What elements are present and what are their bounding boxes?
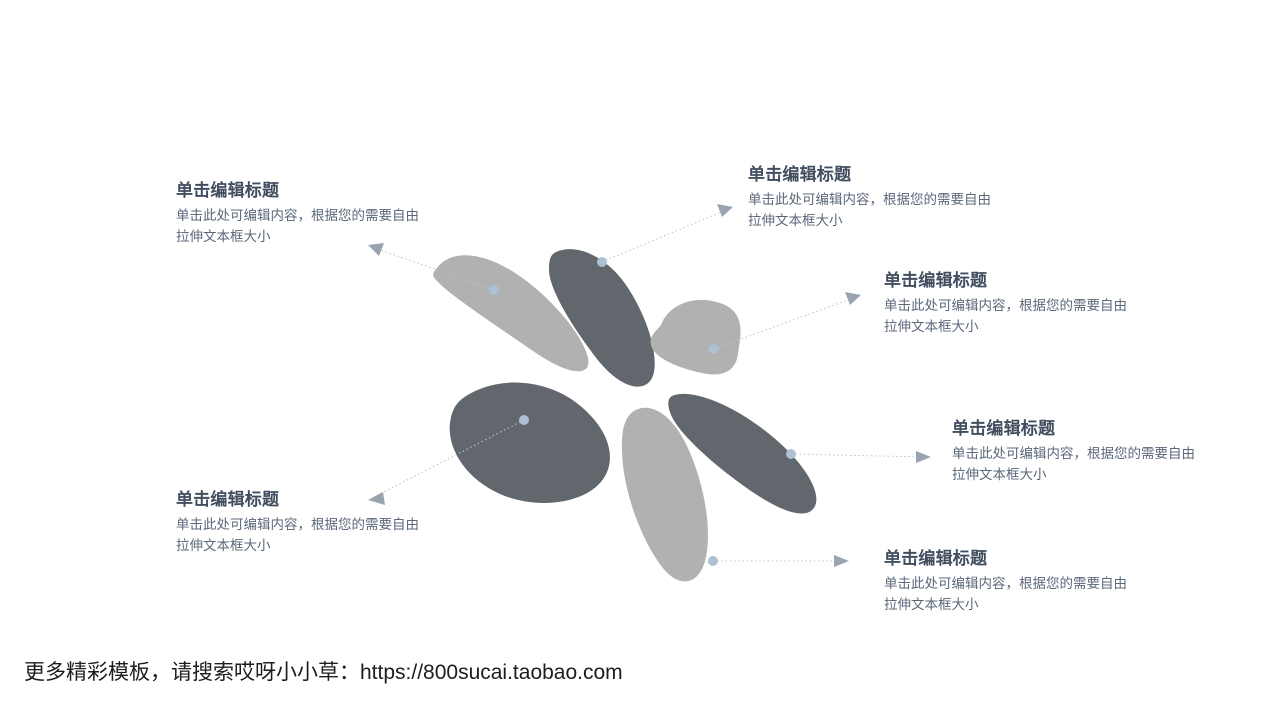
callout-4-title: 单击编辑标题 [952, 418, 1252, 439]
petal-left-dark[interactable] [450, 383, 610, 503]
anchor-dot-6[interactable] [708, 556, 718, 566]
callout-1-body: 单击此处可编辑内容，根据您的需要自由拉伸文本框大小 [176, 206, 426, 247]
callout-5-body: 单击此处可编辑内容，根据您的需要自由拉伸文本框大小 [176, 515, 426, 556]
callout-3-title: 单击编辑标题 [884, 270, 1184, 291]
connector-2 [602, 204, 733, 262]
callout-1-title: 单击编辑标题 [176, 180, 476, 201]
callout-2[interactable]: 单击编辑标题 单击此处可编辑内容，根据您的需要自由拉伸文本框大小 [748, 164, 1048, 231]
callout-1[interactable]: 单击编辑标题 单击此处可编辑内容，根据您的需要自由拉伸文本框大小 [176, 180, 476, 247]
callout-3[interactable]: 单击编辑标题 单击此处可编辑内容，根据您的需要自由拉伸文本框大小 [884, 270, 1184, 337]
petal-right-light[interactable] [651, 300, 741, 375]
callout-6-body: 单击此处可编辑内容，根据您的需要自由拉伸文本框大小 [884, 574, 1134, 615]
anchor-dot-3[interactable] [709, 344, 719, 354]
connector-6 [713, 555, 849, 567]
callout-2-body: 单击此处可编辑内容，根据您的需要自由拉伸文本框大小 [748, 190, 998, 231]
callout-2-title: 单击编辑标题 [748, 164, 1048, 185]
callout-5[interactable]: 单击编辑标题 单击此处可编辑内容，根据您的需要自由拉伸文本框大小 [176, 489, 476, 556]
slide-canvas: 单击编辑标题 单击此处可编辑内容，根据您的需要自由拉伸文本框大小 单击编辑标题 … [0, 0, 1280, 720]
callout-5-title: 单击编辑标题 [176, 489, 476, 510]
callout-3-body: 单击此处可编辑内容，根据您的需要自由拉伸文本框大小 [884, 296, 1134, 337]
callout-6[interactable]: 单击编辑标题 单击此处可编辑内容，根据您的需要自由拉伸文本框大小 [884, 548, 1184, 615]
callout-4-body: 单击此处可编辑内容，根据您的需要自由拉伸文本框大小 [952, 444, 1202, 485]
connector-4 [791, 451, 931, 463]
anchor-dot-2[interactable] [597, 257, 607, 267]
anchor-dot-1[interactable] [489, 285, 499, 295]
anchor-dot-4[interactable] [786, 449, 796, 459]
callout-4[interactable]: 单击编辑标题 单击此处可编辑内容，根据您的需要自由拉伸文本框大小 [952, 418, 1252, 485]
footer-watermark: 更多精彩模板，请搜索哎呀小小草：https://800sucai.taobao.… [24, 656, 623, 686]
anchor-dot-5[interactable] [519, 415, 529, 425]
callout-6-title: 单击编辑标题 [884, 548, 1184, 569]
